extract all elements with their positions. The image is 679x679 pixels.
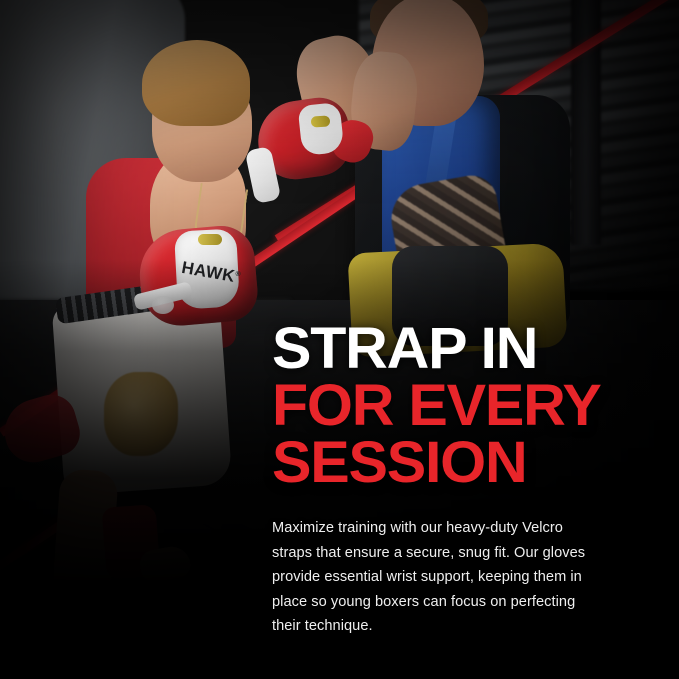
headline-line-3: SESSION (272, 434, 672, 491)
page-title: STRAP IN FOR EVERY SESSION (272, 320, 672, 491)
glove-brand-text: HAWK (180, 258, 236, 286)
body-paragraph: Maximize training with our heavy-duty Ve… (272, 491, 602, 639)
headline-line-1: STRAP IN (272, 320, 672, 377)
velcro-strap-upper (311, 115, 331, 127)
boy-shorts-emblem (104, 372, 178, 456)
boy-hair (142, 40, 250, 126)
headline-line-2: FOR EVERY (272, 377, 672, 434)
boy-foot-back (84, 633, 141, 670)
velcro-strap-main (198, 234, 222, 245)
glove-logo-mark (152, 296, 174, 314)
trademark-symbol: ® (235, 271, 242, 279)
product-marketing-banner: HAWK® STRAP IN FOR EVERY SESSION Maximiz… (0, 0, 679, 679)
promo-copy-block: STRAP IN FOR EVERY SESSION Maximize trai… (272, 320, 664, 639)
